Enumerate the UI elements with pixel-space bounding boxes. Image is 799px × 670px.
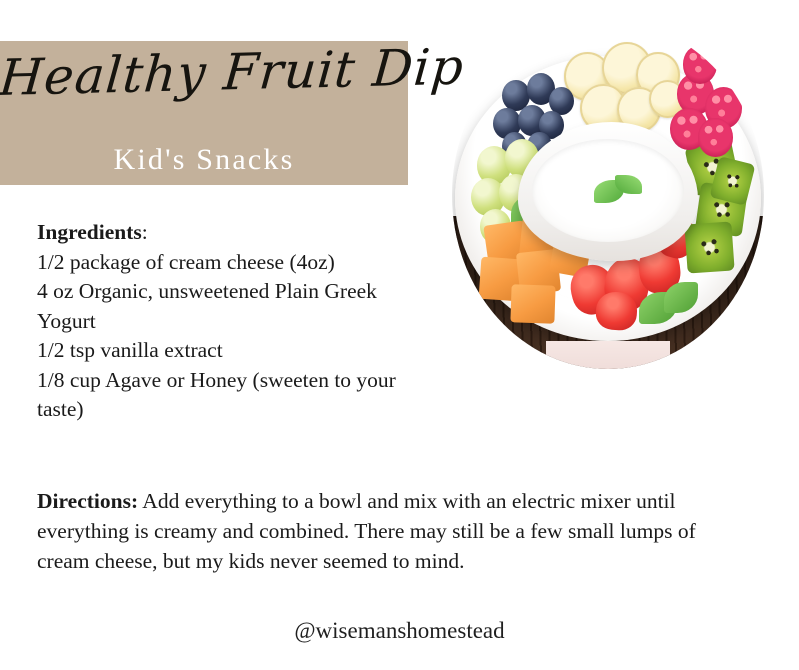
page-title: Healthy Fruit Dip xyxy=(0,42,411,104)
list-item: 4 oz Organic, unsweetened Plain Greek Yo… xyxy=(37,277,437,336)
list-item: 1/2 package of cream cheese (4oz) xyxy=(37,248,437,278)
page-subtitle: Kid's Snacks xyxy=(0,145,408,175)
cantaloupe-cube xyxy=(511,285,556,325)
ingredients-list: 1/2 package of cream cheese (4oz) 4 oz O… xyxy=(37,248,437,425)
list-item: 1/8 cup Agave or Honey (sweeten to your … xyxy=(37,366,437,425)
social-handle: @wisemanshomestead xyxy=(0,618,799,644)
ingredients-section: Ingredients: 1/2 package of cream cheese… xyxy=(37,218,437,425)
directions-section: Directions: Add everything to a bowl and… xyxy=(37,486,749,576)
header-banner: Healthy Fruit Dip Kid's Snacks xyxy=(0,41,408,185)
directions-heading: Directions: xyxy=(37,489,138,513)
raspberry xyxy=(683,45,717,83)
ingredients-heading: Ingredients: xyxy=(37,218,437,248)
fruit-dip-photo xyxy=(452,21,764,369)
recipe-card: Healthy Fruit Dip Kid's Snacks xyxy=(0,0,799,670)
photo-scene xyxy=(452,21,764,369)
ingredients-heading-colon: : xyxy=(142,220,148,244)
ingredients-heading-text: Ingredients xyxy=(37,220,142,244)
kiwi-slice xyxy=(684,221,734,273)
bowl-foot xyxy=(546,341,671,369)
raspberry xyxy=(698,118,732,156)
list-item: 1/2 tsp vanilla extract xyxy=(37,336,437,366)
